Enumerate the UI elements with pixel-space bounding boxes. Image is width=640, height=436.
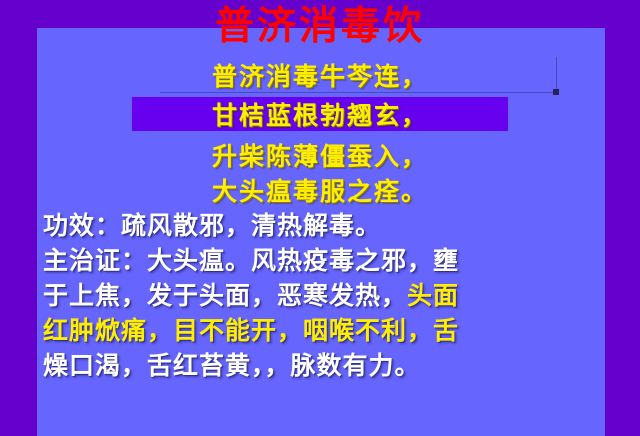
slide-title: 普济消毒饮	[0, 2, 640, 50]
indication-line-3: 红肿焮痛，目不能开，咽喉不利，舌	[43, 313, 613, 348]
verse-line-1: 普济消毒牛芩连，	[0, 60, 640, 93]
efficacy-line: 功效：疏风散邪，清热解毒。	[43, 208, 613, 243]
indication-line-2-white: 于上焦，发于头面，恶寒发热，	[43, 281, 407, 310]
indication-line-2: 于上焦，发于头面，恶寒发热，头面	[43, 278, 613, 313]
verse-line-3: 升柴陈薄僵蚕入，	[0, 140, 640, 173]
indication-line-2-emphasis: 头面	[407, 281, 459, 310]
indication-line-4: 燥口渴，舌红苔黄，，脉数有力。	[43, 348, 613, 383]
verse-line-4: 大头瘟毒服之痊。	[0, 175, 640, 208]
indication-line-1: 主治证：大头瘟。风热疫毒之邪，壅	[43, 243, 613, 278]
slide-body-text: 功效：疏风散邪，清热解毒。 主治证：大头瘟。风热疫毒之邪，壅 于上焦，发于头面，…	[43, 208, 613, 383]
verse-line-2: 甘桔蓝根勃翘玄，	[0, 99, 640, 132]
slide-canvas: 普济消毒饮 普济消毒牛芩连， 甘桔蓝根勃翘玄， 升柴陈薄僵蚕入， 大头瘟毒服之痊…	[0, 0, 640, 436]
